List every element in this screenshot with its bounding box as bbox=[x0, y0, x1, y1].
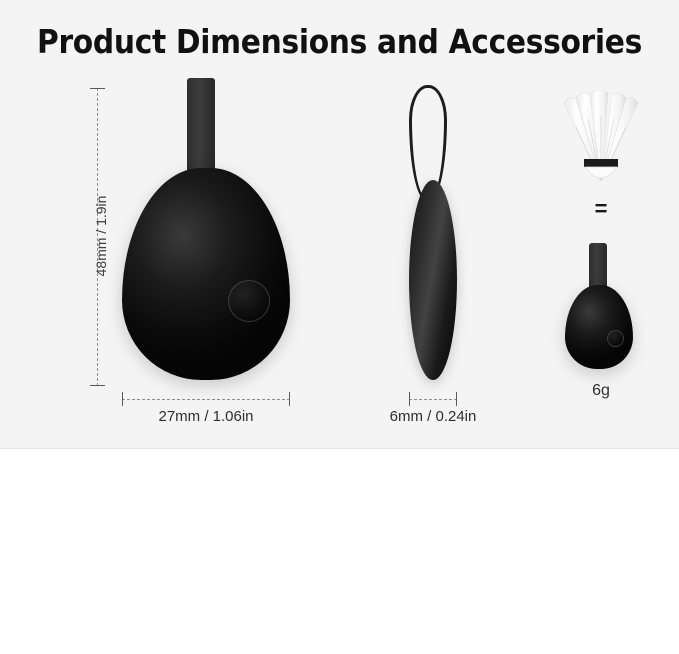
dimension-cap-left bbox=[409, 392, 410, 406]
thickness-dimension-line: 6mm / 0.24in bbox=[409, 392, 457, 406]
product-infographic: Product Dimensions and Accessories 48mm … bbox=[0, 0, 679, 654]
tag-body bbox=[565, 285, 633, 369]
dimension-cap-top bbox=[90, 88, 105, 89]
shuttlecock-icon bbox=[556, 85, 646, 195]
dimension-cap-left bbox=[122, 392, 123, 406]
dimension-dashed-line bbox=[409, 399, 457, 400]
dimension-cap-bottom bbox=[90, 385, 105, 386]
shuttlecock-svg bbox=[556, 85, 646, 195]
width-dimension-line: 27mm / 1.06in bbox=[122, 392, 290, 406]
width-dimension-label: 27mm / 1.06in bbox=[158, 408, 253, 425]
dimension-dashed-line bbox=[122, 399, 290, 400]
tag-side-body bbox=[409, 180, 457, 380]
thickness-dimension-label: 6mm / 0.24in bbox=[390, 408, 477, 425]
tag-body bbox=[122, 168, 290, 380]
height-dimension-label: 48mm / 1.9in bbox=[93, 161, 109, 311]
height-dimension-line: 48mm / 1.9in bbox=[88, 88, 108, 386]
tag-button bbox=[607, 330, 624, 347]
weight-label: 6g bbox=[556, 382, 646, 400]
accessories-panel: 1 Item Tag Model: Water drop Works with … bbox=[0, 449, 679, 654]
dimension-cap-right bbox=[456, 392, 457, 406]
tag-button bbox=[228, 280, 270, 322]
equals-sign: = bbox=[556, 198, 646, 220]
page-title: Product Dimensions and Accessories bbox=[0, 22, 679, 61]
dimension-cap-right bbox=[289, 392, 290, 406]
dimensions-panel: Product Dimensions and Accessories 48mm … bbox=[0, 0, 679, 449]
